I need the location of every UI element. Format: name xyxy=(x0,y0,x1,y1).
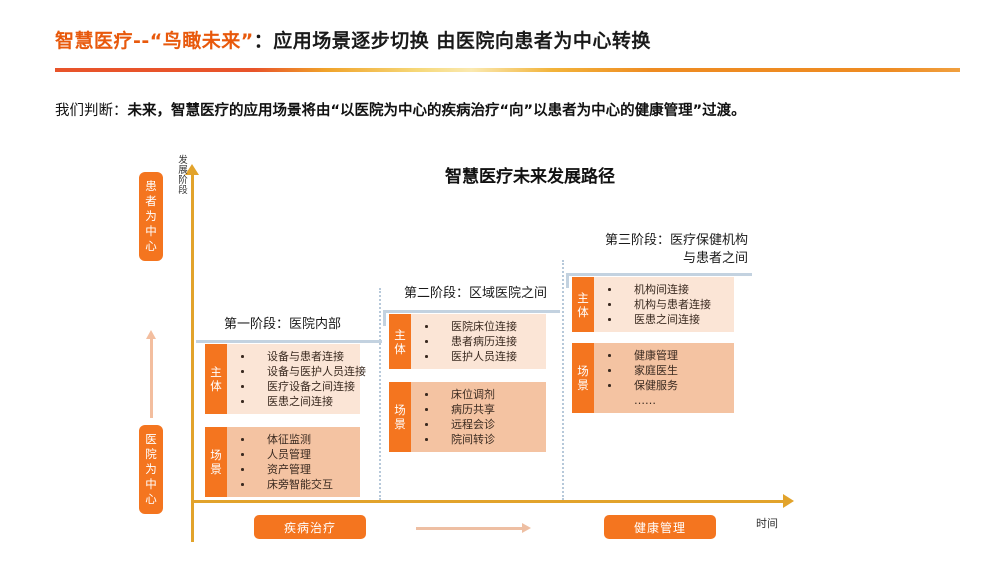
tag-char: 场 xyxy=(394,403,406,417)
list-item: …… xyxy=(608,393,728,408)
list-item: 患者病历连接 xyxy=(425,334,540,349)
stage-3-scenario-body: 健康管理 家庭医生 保健服务 …… xyxy=(594,343,734,413)
tag-char: 场 xyxy=(577,364,589,378)
list-item: 机构与患者连接 xyxy=(608,297,728,312)
list-item: 医患之间连接 xyxy=(608,312,728,327)
y-low-char-1: 院 xyxy=(139,447,163,462)
tag-char: 景 xyxy=(210,462,222,476)
diagram-canvas: 智慧医疗未来发展路径 发 展 阶 段 时间 患 者 为 中 心 医 院 为 中 xyxy=(0,140,1000,563)
lead-body: 未来，智慧医疗的应用场景将由“以医院为中心的疾病治疗“向”以患者为中心的健康管理… xyxy=(128,103,746,119)
y-low-char-0: 医 xyxy=(139,432,163,447)
slide-root: 智慧医疗--“鸟瞰未来”：应用场景逐步切换 由医院向患者为中心转换 我们判断：未… xyxy=(0,0,1000,563)
stage-3-title-line2: 与患者之间 xyxy=(605,250,748,268)
list-item: 设备与患者连接 xyxy=(241,349,366,364)
stage-2-scenario-body: 床位调剂 病历共享 远程会诊 院间转诊 xyxy=(411,382,546,452)
list-item: 医疗设备之间连接 xyxy=(241,379,366,394)
page-title-main: ：应用场景逐步切换 由医院向患者为中心转换 xyxy=(254,30,651,52)
list-item: 医患之间连接 xyxy=(241,394,366,409)
tag-char: 主 xyxy=(577,291,589,305)
tag-char: 主 xyxy=(394,328,406,342)
list-item: 机构间连接 xyxy=(608,282,728,297)
stage-3-topline xyxy=(566,273,752,276)
stage-1-topline xyxy=(196,340,382,343)
stage-3-scenario-tag: 场 景 xyxy=(572,343,594,413)
y-axis-label: 发 展 阶 段 xyxy=(172,156,194,196)
stage-3-leftline xyxy=(566,273,569,288)
y-low-char-3: 中 xyxy=(139,477,163,492)
stage-2-leftline xyxy=(383,310,386,326)
list-item: 资产管理 xyxy=(241,462,354,477)
x-axis-arrowhead xyxy=(783,494,794,508)
stage-2-topline xyxy=(383,310,560,313)
x-end-pill-health-management: 健康管理 xyxy=(604,515,716,539)
list-item: 保健服务 xyxy=(608,378,728,393)
stage-separator-2 xyxy=(562,260,564,500)
list-item: 院间转诊 xyxy=(425,432,540,447)
y-low-char-2: 为 xyxy=(139,462,163,477)
y-high-char-2: 为 xyxy=(139,209,163,224)
lead-prefix: 我们判断： xyxy=(55,103,128,119)
tag-char: 主 xyxy=(210,365,222,379)
stage-2-subject-tag: 主 体 xyxy=(389,314,411,369)
list-item: 体征监测 xyxy=(241,432,354,447)
tag-char: 体 xyxy=(577,305,589,319)
chart-title: 智慧医疗未来发展路径 xyxy=(400,162,660,187)
stage-2-group-subject: 主 体 医院床位连接 患者病历连接 医护人员连接 xyxy=(389,314,546,369)
stage-3-title-line1: 第三阶段：医疗保健机构 xyxy=(605,232,748,250)
stage-1-subject-tag: 主 体 xyxy=(205,344,227,414)
stage-3-group-subject: 主 体 机构间连接 机构与患者连接 医患之间连接 xyxy=(572,277,734,332)
y-axis-label-char-3: 段 xyxy=(172,186,194,196)
y-low-char-4: 心 xyxy=(139,492,163,507)
tag-char: 场 xyxy=(210,448,222,462)
y-low-pill-hospital-centric: 医 院 为 中 心 xyxy=(139,425,163,514)
header-gradient-rule xyxy=(55,68,960,72)
list-item: 医护人员连接 xyxy=(425,349,540,364)
stage-3-group-scenario: 场 景 健康管理 家庭医生 保健服务 …… xyxy=(572,343,734,413)
stage-1-scenario-tag: 场 景 xyxy=(205,427,227,497)
x-axis-line xyxy=(191,500,786,503)
list-item: 健康管理 xyxy=(608,348,728,363)
x-start-pill-disease-treatment: 疾病治疗 xyxy=(254,515,366,539)
list-item: 设备与医护人员连接 xyxy=(241,364,366,379)
y-high-char-1: 者 xyxy=(139,194,163,209)
stage-1-group-scenario: 场 景 体征监测 人员管理 资产管理 床旁智能交互 xyxy=(205,427,360,497)
tag-char: 体 xyxy=(394,342,406,356)
y-high-char-3: 中 xyxy=(139,224,163,239)
stage-2-scenario-tag: 场 景 xyxy=(389,382,411,452)
list-item: 床旁智能交互 xyxy=(241,477,354,492)
tag-char: 景 xyxy=(394,417,406,431)
y-axis-line xyxy=(191,172,194,542)
stage-3-title: 第三阶段：医疗保健机构 与患者之间 xyxy=(605,232,748,268)
list-item: 远程会诊 xyxy=(425,417,540,432)
tag-char: 体 xyxy=(210,379,222,393)
y-high-char-4: 心 xyxy=(139,239,163,254)
list-item: 病历共享 xyxy=(425,402,540,417)
page-title-accent: 智慧医疗--“鸟瞰未来” xyxy=(55,30,254,52)
stage-2-title: 第二阶段：区域医院之间 xyxy=(404,285,547,303)
stage-1-group-subject: 主 体 设备与患者连接 设备与医护人员连接 医疗设备之间连接 医患之间连接 xyxy=(205,344,360,414)
stage-separator-1 xyxy=(379,288,381,500)
lead-paragraph: 我们判断：未来，智慧医疗的应用场景将由“以医院为中心的疾病治疗“向”以患者为中心… xyxy=(55,100,945,122)
stage-1-scenario-body: 体征监测 人员管理 资产管理 床旁智能交互 xyxy=(227,427,360,497)
y-high-char-0: 患 xyxy=(139,179,163,194)
stage-1-title: 第一阶段：医院内部 xyxy=(224,316,341,334)
x-axis-label: 时间 xyxy=(756,515,778,531)
y-high-pill-patient-centric: 患 者 为 中 心 xyxy=(139,172,163,261)
page-title: 智慧医疗--“鸟瞰未来”：应用场景逐步切换 由医院向患者为中心转换 xyxy=(55,28,955,54)
tag-char: 景 xyxy=(577,378,589,392)
stage-1-subject-body: 设备与患者连接 设备与医护人员连接 医疗设备之间连接 医患之间连接 xyxy=(227,344,372,414)
list-item: 家庭医生 xyxy=(608,363,728,378)
list-item: 人员管理 xyxy=(241,447,354,462)
stage-2-subject-body: 医院床位连接 患者病历连接 医护人员连接 xyxy=(411,314,546,369)
stage-2-group-scenario: 场 景 床位调剂 病历共享 远程会诊 院间转诊 xyxy=(389,382,546,452)
list-item: 床位调剂 xyxy=(425,387,540,402)
transition-arrow xyxy=(416,523,536,533)
stage-3-subject-body: 机构间连接 机构与患者连接 医患之间连接 xyxy=(594,277,734,332)
list-item: 医院床位连接 xyxy=(425,319,540,334)
stage-3-subject-tag: 主 体 xyxy=(572,277,594,332)
